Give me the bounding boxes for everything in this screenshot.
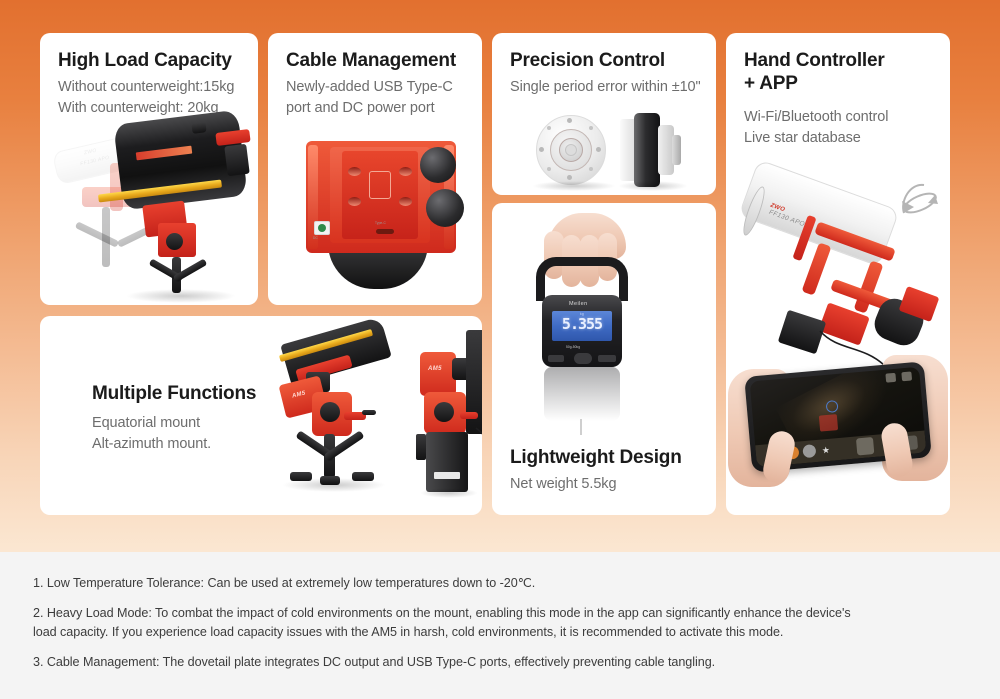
scale-brand-label: Meilen — [569, 301, 588, 307]
card-multiple-functions-sub-1: Equatorial mount — [92, 413, 256, 434]
scale-reading-value: 5.355 — [552, 316, 612, 333]
card-hand-controller-app: Hand Controller + APP Wi-Fi/Bluetooth co… — [726, 33, 950, 515]
card-precision-control: Precision Control Single period error wi… — [492, 33, 716, 195]
scale-lcd-screen: kg 5.355 — [552, 311, 612, 341]
card-precision-control-sub-1: Single period error within ±10" — [510, 77, 716, 98]
telescope-on-mount-illustration: ZWO FF130 APO — [40, 111, 258, 305]
card-cable-management-title: Cable Management — [286, 49, 482, 72]
card-multiple-functions-sub-2: Alt-azimuth mount. — [92, 434, 256, 455]
card-lightweight-design-text: Lightweight Design Net weight 5.5kg — [510, 446, 682, 495]
port-label-usb: Type-C — [375, 221, 386, 225]
card-precision-control-text: Precision Control Single period error wi… — [492, 33, 716, 98]
footer-note-1: 1. Low Temperature Tolerance: Can be use… — [33, 574, 970, 592]
card-multiple-functions-text: Multiple Functions Equatorial mount Alt-… — [92, 382, 256, 455]
scale-range-label: 50g-50kg — [566, 345, 580, 349]
card-cable-management: Cable Management Newly-added USB Type-C … — [268, 33, 482, 305]
rotation-arrows-icon — [894, 175, 942, 223]
card-hand-controller-app-sub-1: Wi-Fi/Bluetooth control — [744, 107, 950, 128]
footer-note-3: 3. Cable Management: The dovetail plate … — [33, 653, 970, 671]
card-lightweight-design-title: Lightweight Design — [510, 446, 682, 469]
infographic-page: High Load Capacity Without counterweight… — [0, 0, 1000, 699]
footer-note-2-line-2: load capacity. If you experience load ca… — [33, 623, 970, 641]
card-hand-controller-app-text: Hand Controller + APP Wi-Fi/Bluetooth co… — [726, 33, 950, 149]
card-hand-controller-app-sub-2: Live star database — [744, 128, 950, 149]
card-high-load-capacity-title: High Load Capacity — [58, 49, 258, 72]
card-high-load-capacity-sub-1: Without counterweight:15kg — [58, 77, 258, 98]
footer-notes-panel: 1. Low Temperature Tolerance: Can be use… — [0, 552, 1000, 699]
card-multiple-functions-title: Multiple Functions — [92, 382, 256, 405]
card-lightweight-design: Meilen kg 5.355 50g-50kg Lightweight Des… — [492, 203, 716, 515]
card-high-load-capacity-text: High Load Capacity Without counterweight… — [40, 33, 258, 119]
equatorial-mount-illustration: AM5 — [268, 326, 398, 506]
card-multiple-functions: Multiple Functions Equatorial mount Alt-… — [40, 316, 482, 515]
card-precision-control-title: Precision Control — [510, 49, 716, 72]
mount-brand-label-altaz: AM5 — [428, 366, 442, 372]
harmonic-drive-gear-illustration — [492, 109, 716, 195]
card-cable-management-sub-2: port and DC power port — [286, 98, 482, 119]
card-high-load-capacity: High Load Capacity Without counterweight… — [40, 33, 258, 305]
card-hand-controller-app-title-line-2: + APP — [744, 72, 950, 95]
dovetail-saddle-plate-illustration: DC Type-C — [268, 133, 482, 305]
card-lightweight-design-sub-1: Net weight 5.5kg — [510, 474, 682, 495]
footer-note-2-line-1: 2. Heavy Load Mode: To combat the impact… — [33, 604, 970, 622]
card-hand-controller-app-title-line-1: Hand Controller — [744, 49, 950, 72]
port-label-dc: DC — [313, 236, 318, 240]
luggage-scale-illustration: Meilen kg 5.355 50g-50kg — [492, 209, 716, 441]
refractor-and-phone-app-illustration: ZWO FF130 APO — [726, 173, 950, 515]
card-cable-management-sub-1: Newly-added USB Type-C — [286, 77, 482, 98]
alt-azimuth-mount-illustration: AM5 — [410, 330, 482, 506]
card-cable-management-text: Cable Management Newly-added USB Type-C … — [268, 33, 482, 119]
